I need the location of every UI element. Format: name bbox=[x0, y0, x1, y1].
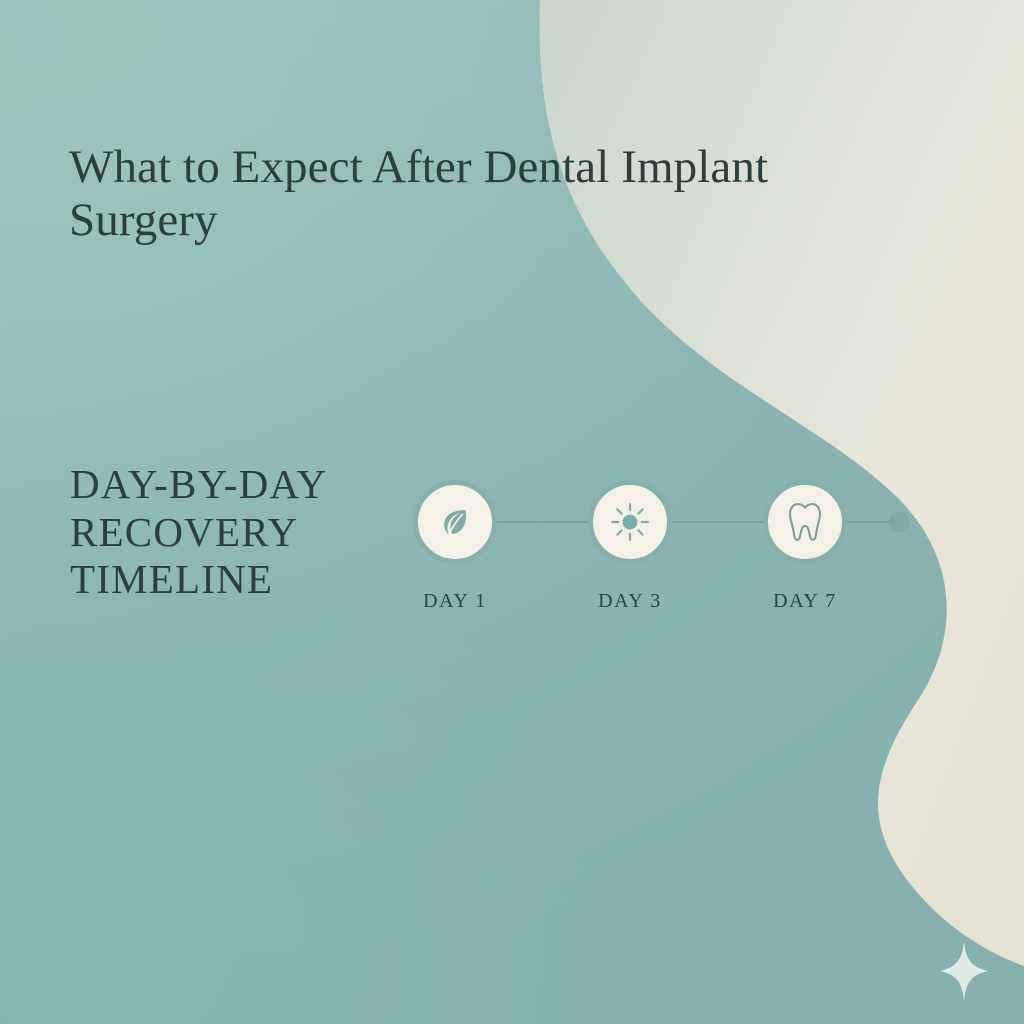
timeline-step-label: Day 7 bbox=[773, 590, 837, 613]
timeline-end-dot bbox=[889, 512, 909, 532]
section-heading: Day-by-Day Recovery Timeline bbox=[70, 461, 400, 604]
timeline-step-day-7[interactable]: Day 7 bbox=[763, 480, 847, 564]
sun-icon bbox=[609, 501, 651, 543]
page-title: What to Expect After Dental Implant Surg… bbox=[69, 141, 829, 247]
timeline-step-day-3[interactable]: Day 3 bbox=[588, 480, 672, 564]
leaf-icon bbox=[435, 502, 475, 542]
timeline-step-label: Day 1 bbox=[423, 590, 487, 613]
sparkle-icon bbox=[940, 942, 988, 1000]
tooth-icon bbox=[785, 500, 825, 544]
timeline-step-label: Day 3 bbox=[598, 590, 662, 613]
timeline-step-bubble bbox=[588, 480, 672, 564]
timeline-step-bubble bbox=[763, 480, 847, 564]
timeline-step-bubble bbox=[413, 480, 497, 564]
recovery-timeline: Day 1 bbox=[405, 468, 925, 618]
poster-canvas: What to Expect After Dental Implant Surg… bbox=[0, 0, 1024, 1024]
timeline-step-day-1[interactable]: Day 1 bbox=[413, 480, 497, 564]
